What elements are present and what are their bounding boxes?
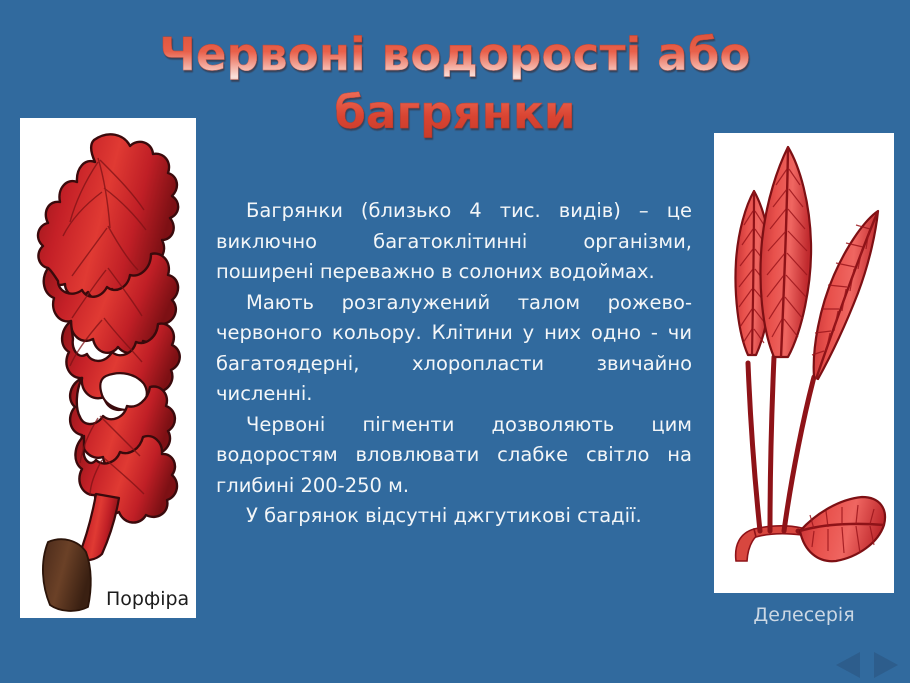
presentation-slide: Червоні водорості або багрянки (0, 0, 910, 683)
body-text: Багрянки (близько 4 тис. видів) – це вик… (216, 196, 692, 532)
caption-delesseria: Делесерія (714, 604, 894, 626)
figure-porphyra (20, 118, 196, 618)
delesseria-illustration (714, 133, 894, 593)
porphyra-illustration (20, 118, 196, 618)
prev-slide-arrow-icon[interactable] (836, 652, 860, 678)
next-slide-arrow-icon[interactable] (874, 652, 898, 678)
paragraph-2: Мають розгалужений талом рожево-червоног… (216, 288, 692, 410)
figure-delesseria (714, 133, 894, 593)
paragraph-1: Багрянки (близько 4 тис. видів) – це вик… (216, 196, 692, 288)
paragraph-4: У багрянок відсутні джгутикові стадії. (216, 501, 692, 532)
caption-porphyra: Порфіра (106, 588, 189, 610)
paragraph-3: Червоні пігменти дозволяють цим водорост… (216, 410, 692, 502)
